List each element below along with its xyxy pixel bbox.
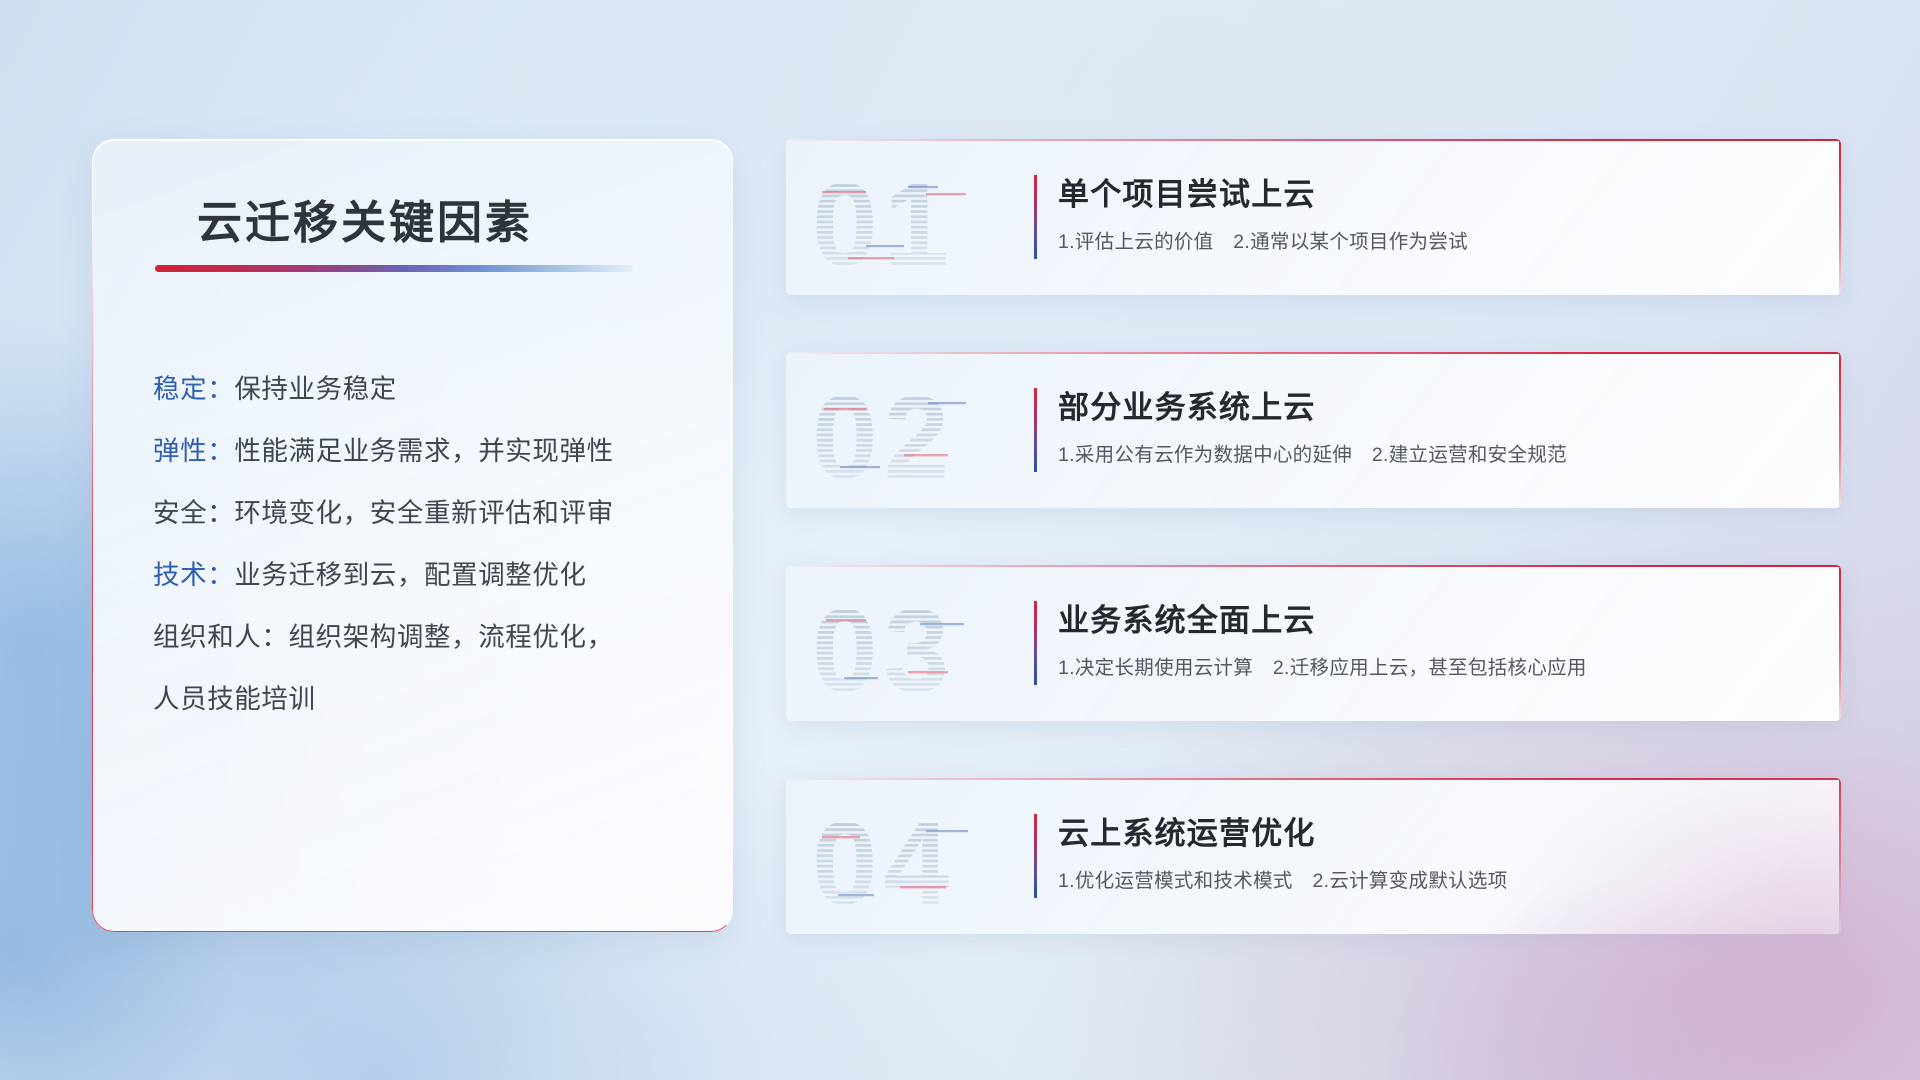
card-right-rule xyxy=(1839,139,1841,295)
card-subtitle: 1.评估上云的价值 2.通常以某个项目作为尝试 xyxy=(1058,225,1468,254)
card-title: 单个项目尝试上云 xyxy=(1058,169,1316,214)
factor-key: 技术： xyxy=(153,560,234,590)
list-item: 组织和人：组织架构调整，流程优化， xyxy=(153,606,693,668)
factor-key: 稳定： xyxy=(153,374,234,404)
list-item: 技术：业务迁移到云，配置调整优化 xyxy=(153,544,693,606)
card-right-rule xyxy=(1839,778,1841,934)
list-item: 人员技能培训 xyxy=(153,668,693,730)
step-number-watermark-icon: 03 xyxy=(808,579,1018,707)
key-factors-list: 稳定：保持业务稳定 弹性：性能满足业务需求，并实现弹性 安全：环境变化，安全重新… xyxy=(153,358,693,730)
slide-canvas: 云迁移关键因素 稳定：保持业务稳定 弹性：性能满足业务需求，并实现弹性 安全：环… xyxy=(0,0,1920,1080)
svg-text:03: 03 xyxy=(812,585,955,707)
card-accent-bar xyxy=(1034,388,1037,472)
factor-value: 人员技能培训 xyxy=(153,684,316,714)
card-accent-bar xyxy=(1034,175,1037,259)
card-subtitle: 1.采用公有云作为数据中心的延伸 2.建立运营和安全规范 xyxy=(1058,438,1567,467)
card-right-rule xyxy=(1839,565,1841,721)
step-card[interactable]: 04 云上系统运营优化 1.优化运营模式和技术模式 2.云计算变成默认选项 xyxy=(786,778,1841,934)
step-number-watermark-icon: 01 xyxy=(808,153,1018,281)
factor-value: 保持业务稳定 xyxy=(234,374,397,404)
card-title: 业务系统全面上云 xyxy=(1058,595,1316,640)
step-number-watermark-icon: 02 xyxy=(808,366,1018,494)
svg-text:02: 02 xyxy=(812,372,955,494)
factor-key: 组织和人： xyxy=(153,622,289,652)
factor-value: 组织架构调整，流程优化， xyxy=(289,622,614,652)
step-number-watermark-icon: 04 xyxy=(808,792,1018,920)
card-accent-bar xyxy=(1034,601,1037,685)
card-top-rule xyxy=(786,778,1841,780)
card-top-rule xyxy=(786,139,1841,141)
step-card[interactable]: 03 业务系统全面上云 1.决定长期使用云计算 2.迁移应用上云，甚至包括核心应… xyxy=(786,565,1841,721)
card-top-rule xyxy=(786,565,1841,567)
card-title: 部分业务系统上云 xyxy=(1058,382,1316,427)
title-underline-rule xyxy=(155,265,633,272)
card-top-rule xyxy=(786,352,1841,354)
card-subtitle: 1.优化运营模式和技术模式 2.云计算变成默认选项 xyxy=(1058,864,1508,893)
step-card[interactable]: 02 部分业务系统上云 1.采用公有云作为数据中心的延伸 2.建立运营和安全规范 xyxy=(786,352,1841,508)
key-factors-panel: 云迁移关键因素 稳定：保持业务稳定 弹性：性能满足业务需求，并实现弹性 安全：环… xyxy=(92,139,733,932)
svg-text:04: 04 xyxy=(812,798,955,920)
card-accent-bar xyxy=(1034,814,1037,898)
list-item: 弹性：性能满足业务需求，并实现弹性 xyxy=(153,420,693,482)
factor-value: 性能满足业务需求，并实现弹性 xyxy=(234,436,613,466)
factor-value: 业务迁移到云，配置调整优化 xyxy=(234,560,586,590)
page-title: 云迁移关键因素 xyxy=(197,186,533,251)
list-item: 安全：环境变化，安全重新评估和评审 xyxy=(153,482,693,544)
list-item: 稳定：保持业务稳定 xyxy=(153,358,693,420)
card-right-rule xyxy=(1839,352,1841,508)
card-title: 云上系统运营优化 xyxy=(1058,808,1316,853)
card-subtitle: 1.决定长期使用云计算 2.迁移应用上云，甚至包括核心应用 xyxy=(1058,651,1587,680)
factor-key: 安全： xyxy=(153,498,234,528)
factor-key: 弹性： xyxy=(153,436,234,466)
svg-text:01: 01 xyxy=(812,159,955,281)
step-card[interactable]: 01 单个项目尝试上云 1.评估上云的价值 2.通常以某个项目作为尝试 xyxy=(786,139,1841,295)
factor-value: 环境变化，安全重新评估和评审 xyxy=(234,498,613,528)
